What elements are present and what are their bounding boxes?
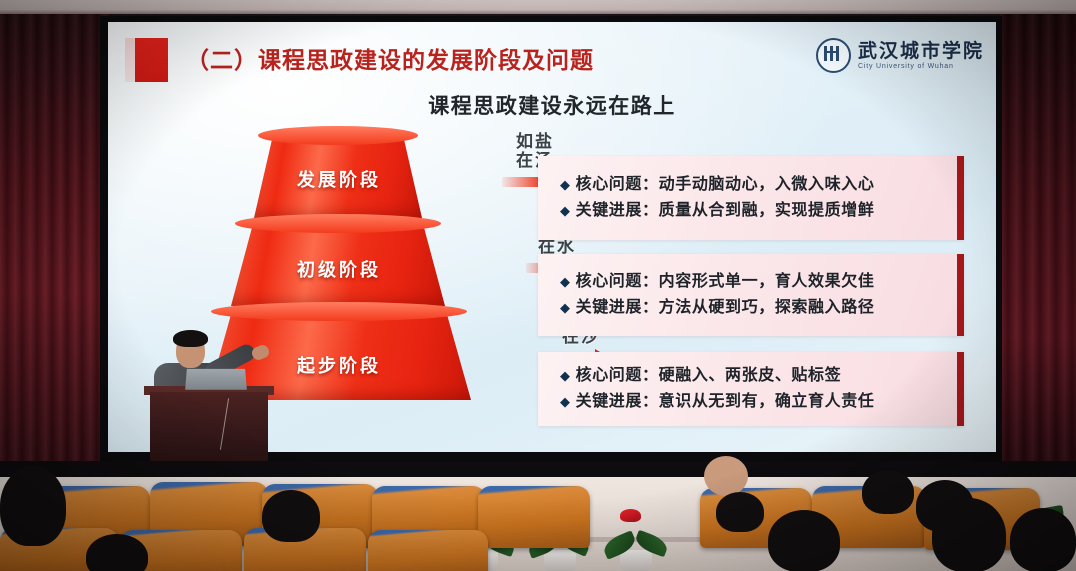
content-box-development-line2-value: 质量从合到融，实现提质增鲜	[659, 202, 875, 219]
plant-pot	[620, 550, 652, 571]
content-box-starting-line2-key: 关键进展：	[576, 393, 659, 410]
university-logo: 武汉城市学院 City University of Wuhan	[816, 38, 984, 73]
diamond-bullet-icon: ◆	[560, 300, 571, 315]
audience-head	[716, 492, 764, 532]
pyramid-tier-top-label: 发展阶段	[194, 166, 484, 192]
content-box-starting-line2: ◆关键进展：意识从无到有，确立育人责任	[560, 389, 957, 415]
content-box-development: ◆核心问题：动手动脑动心，入微入味入心 ◆关键进展：质量从合到融，实现提质增鲜	[538, 156, 964, 240]
auditorium-seat	[478, 486, 590, 548]
content-box-primary: ◆核心问题：内容形式单一，育人效果欠佳 ◆关键进展：方法从硬到巧，探索融入路径	[538, 254, 964, 336]
content-box-primary-line2-value: 方法从硬到巧，探索融入路径	[659, 299, 875, 316]
podium	[150, 392, 268, 470]
diamond-bullet-icon: ◆	[560, 394, 571, 409]
content-box-starting-line2-value: 意识从无到有，确立育人责任	[659, 393, 875, 410]
audience-head	[768, 510, 840, 571]
plant-pot	[544, 550, 576, 571]
content-box-starting-line1-value: 硬融入、两张皮、贴标签	[659, 367, 842, 384]
slide-title: （二）课程思政建设的发展阶段及问题	[186, 41, 594, 75]
diamond-bullet-icon: ◆	[560, 203, 571, 218]
presenter-hair	[173, 330, 208, 347]
content-box-primary-line1-key: 核心问题：	[576, 273, 659, 290]
content-box-primary-line2-key: 关键进展：	[576, 299, 659, 316]
pyramid-tier-middle-ellipse	[235, 214, 441, 233]
seal-icon	[816, 38, 851, 73]
logo-name-cn: 武汉城市学院	[858, 42, 984, 61]
content-box-development-line1: ◆核心问题：动手动脑动心，入微入味入心	[560, 172, 957, 198]
content-box-starting-line1-key: 核心问题：	[576, 367, 659, 384]
audience-head	[262, 490, 320, 542]
slide-subtitle: 课程思政建设永远在路上	[108, 90, 996, 120]
pyramid-tier-top-ellipse	[258, 126, 418, 145]
potted-plant	[596, 493, 676, 571]
content-box-starting-line1: ◆核心问题：硬融入、两张皮、贴标签	[560, 363, 957, 389]
pyramid-tier-bottom-label: 起步阶段	[194, 352, 484, 378]
audience-head	[862, 470, 914, 514]
audience-head	[1010, 508, 1076, 571]
audience-head	[932, 498, 1006, 571]
logo-name-en: City University of Wuhan	[858, 63, 984, 70]
stage-curtain-left	[0, 14, 112, 476]
pyramid-tier-bottom-ellipse	[211, 302, 467, 321]
plant-flower	[620, 509, 641, 522]
diamond-bullet-icon: ◆	[560, 177, 571, 192]
auditorium-seat	[368, 530, 488, 571]
content-box-development-line2: ◆关键进展：质量从合到融，实现提质增鲜	[560, 198, 957, 224]
title-accent-red-block	[135, 38, 168, 82]
arrow-label-top-line1: 如盐	[502, 132, 568, 151]
content-box-primary-line1-value: 内容形式单一，育人效果欠佳	[659, 273, 875, 290]
pyramid-tier-middle-label: 初级阶段	[194, 256, 484, 282]
stage-curtain-right	[1000, 14, 1076, 476]
audience-head	[0, 466, 66, 546]
diamond-bullet-icon: ◆	[560, 368, 571, 383]
content-box-primary-line2: ◆关键进展：方法从硬到巧，探索融入路径	[560, 295, 957, 321]
diamond-bullet-icon: ◆	[560, 274, 571, 289]
audience-head	[704, 456, 748, 496]
content-box-development-line2-key: 关键进展：	[576, 202, 659, 219]
content-box-development-line1-key: 核心问题：	[576, 176, 659, 193]
lecture-hall-photo: （二）课程思政建设的发展阶段及问题 武汉城市学院 City University…	[0, 0, 1076, 571]
content-box-starting: ◆核心问题：硬融入、两张皮、贴标签 ◆关键进展：意识从无到有，确立育人责任	[538, 352, 964, 426]
content-box-primary-line1: ◆核心问题：内容形式单一，育人效果欠佳	[560, 269, 957, 295]
content-box-development-line1-value: 动手动脑动心，入微入味入心	[659, 176, 875, 193]
